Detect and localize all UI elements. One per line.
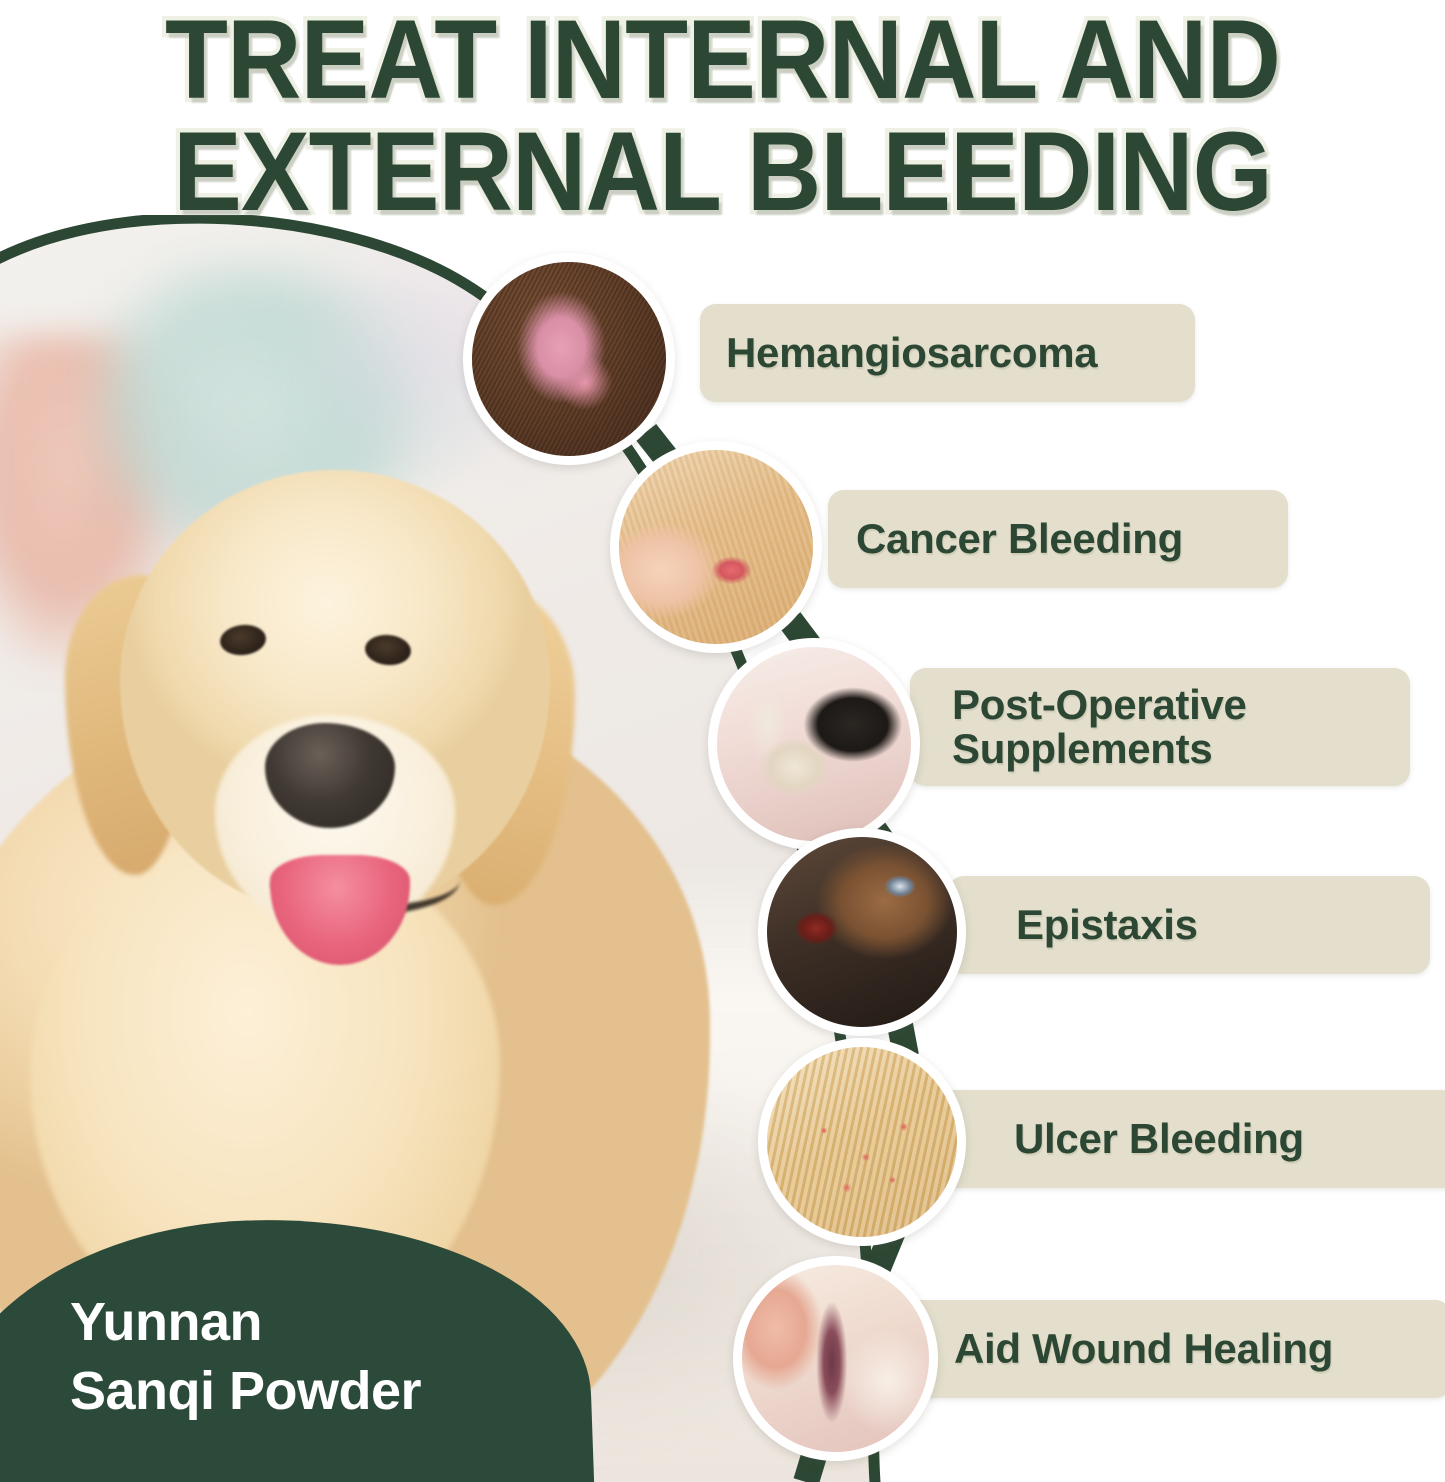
brand-line-2: Sanqi Powder	[70, 1357, 421, 1426]
hemangiosarcoma-image	[472, 262, 666, 456]
post-operative-image	[717, 647, 911, 841]
benefit-label: Hemangiosarcoma	[726, 331, 1097, 375]
page-title: TREAT INTERNAL AND EXTERNAL BLEEDING	[0, 0, 1445, 225]
hemangiosarcoma-thumbnail	[463, 253, 675, 465]
benefit-pill-post-operative-supplements[interactable]: Post-Operative Supplements	[910, 668, 1410, 786]
ulcer-bleeding-thumbnail	[758, 1038, 966, 1246]
headline-line-1: TREAT INTERNAL AND	[58, 0, 1387, 114]
product-infographic: Hemangiosarcoma Cancer Bleeding Post-Ope…	[0, 0, 1445, 1482]
epistaxis-image	[767, 837, 957, 1027]
benefit-label: Epistaxis	[1016, 903, 1198, 947]
cancer-bleeding-image	[619, 450, 813, 644]
benefit-label: Aid Wound Healing	[954, 1327, 1333, 1371]
benefit-pill-cancer-bleeding[interactable]: Cancer Bleeding	[828, 490, 1288, 588]
ulcer-bleeding-image	[767, 1047, 957, 1237]
epistaxis-thumbnail	[758, 828, 966, 1036]
benefit-label: Cancer Bleeding	[856, 517, 1183, 561]
benefit-label: Ulcer Bleeding	[1014, 1117, 1304, 1161]
post-operative-supplements-thumbnail	[708, 638, 920, 850]
benefit-label: Post-Operative Supplements	[952, 683, 1247, 770]
headline-line-2: EXTERNAL BLEEDING	[58, 114, 1387, 226]
benefit-pill-aid-wound-healing[interactable]: Aid Wound Healing	[906, 1300, 1445, 1398]
cancer-bleeding-thumbnail	[610, 441, 822, 653]
benefit-pill-hemangiosarcoma[interactable]: Hemangiosarcoma	[700, 304, 1195, 402]
brand-line-1: Yunnan	[70, 1288, 421, 1357]
brand-name: Yunnan Sanqi Powder	[70, 1288, 421, 1426]
benefit-pill-epistaxis[interactable]: Epistaxis	[948, 876, 1430, 974]
aid-wound-healing-thumbnail	[733, 1256, 938, 1461]
aid-wound-healing-image	[742, 1265, 929, 1452]
benefit-pill-ulcer-bleeding[interactable]: Ulcer Bleeding	[938, 1090, 1445, 1188]
